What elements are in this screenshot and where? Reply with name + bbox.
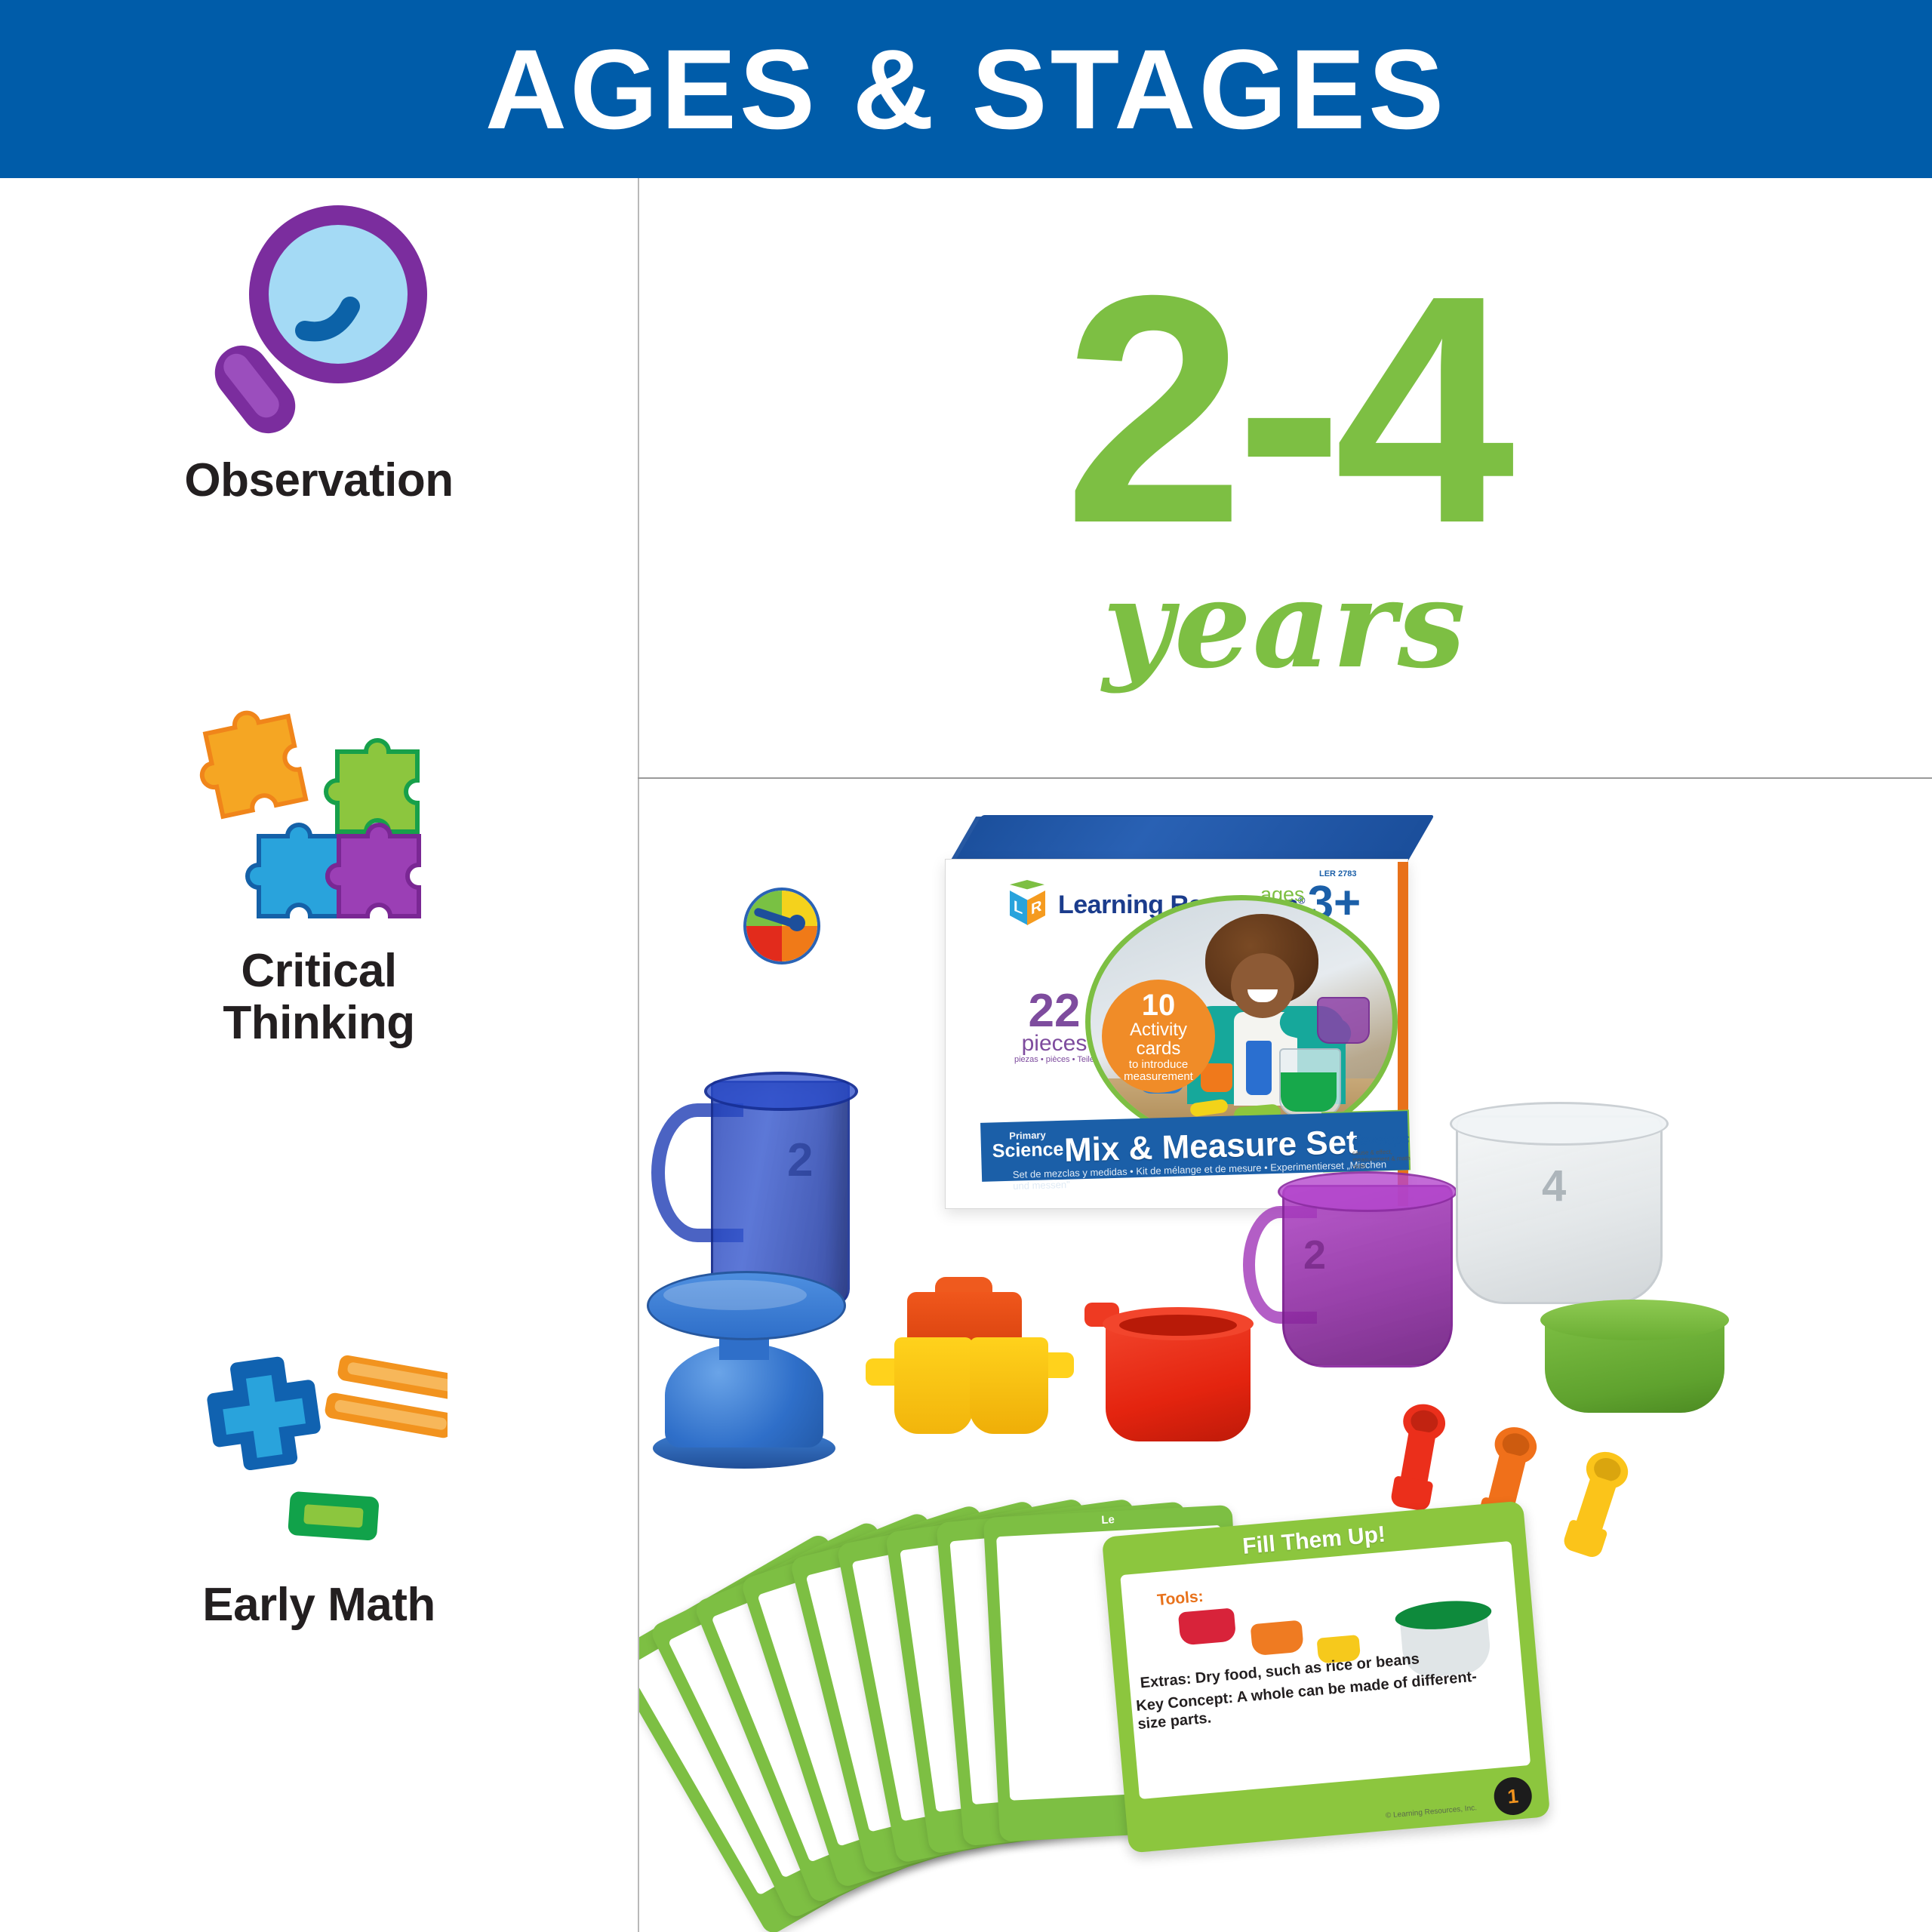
activity-cards-fan: Le Le Le Le Le Le Le Le Le Fill Them Up!…: [752, 1503, 1809, 1896]
skills-column: Observation: [0, 178, 638, 1932]
blue-pitcher-rim: [704, 1072, 858, 1111]
primary-science-line-2: Science: [989, 1140, 1068, 1161]
red-measuring-spoon: [1388, 1401, 1448, 1514]
age-unit-label: years: [1103, 564, 1467, 685]
card-number-badge: 1: [1493, 1776, 1534, 1817]
scale-dial: [743, 888, 820, 964]
activity-card-front: Fill Them Up! Tools: Extras: Dry food, s…: [1102, 1500, 1550, 1853]
badge-line-4: to introduce: [1129, 1059, 1188, 1071]
badge-line-5: measurement: [1124, 1071, 1193, 1083]
skill-item-observation: Observation: [0, 193, 638, 506]
card-red-scoop-icon: [1178, 1607, 1237, 1645]
skill-item-critical-thinking: Critical Thinking: [0, 706, 638, 1050]
logo-cube-icon: L R: [1004, 880, 1051, 930]
age-range-value: 2-4: [1064, 271, 1506, 550]
red-cup-rim-inner: [1119, 1315, 1237, 1336]
age-range-block: 2-4 years: [638, 178, 1932, 777]
pieces-languages: piezas • pièces • Teile: [1014, 1055, 1094, 1064]
logo-letter-l: L: [1014, 898, 1023, 919]
yellow-measuring-cup-right: [970, 1337, 1048, 1434]
ages-and-stages-infographic: AGES & STAGES Observation: [0, 0, 1932, 1932]
blue-pitcher-marking: 2: [787, 1134, 822, 1186]
activity-cards-badge: 10 Activity cards to introduce measureme…: [1102, 980, 1215, 1093]
develops-note: develops cause & effect, measurement & m…: [1352, 1131, 1420, 1171]
pieces-count: 22: [1014, 990, 1094, 1032]
badge-line-3: cards: [1137, 1040, 1181, 1059]
badge-count: 10: [1142, 990, 1176, 1022]
skill-item-early-math: Early Math: [0, 1340, 638, 1631]
skill-label-line-1: Critical: [223, 945, 414, 997]
card-copyright: © Learning Resources, Inc.: [1386, 1804, 1478, 1820]
primary-science-badge: Primary Science: [988, 1130, 1067, 1168]
puzzle-pieces-icon: [191, 706, 448, 933]
product-photo-area: L R Learning Resources® 22 pieces piezas…: [639, 779, 1932, 1932]
skill-label-early-math: Early Math: [202, 1579, 435, 1631]
clear-bowl-marking: 4: [1542, 1161, 1566, 1211]
magnifying-glass-icon: [195, 193, 444, 442]
page-title: AGES & STAGES: [0, 0, 1932, 178]
child-face: [1231, 953, 1294, 1018]
develops-sub: cause & effect, measurement & math skill…: [1352, 1148, 1421, 1171]
yellow-measuring-cup-left: [894, 1337, 973, 1434]
skill-label-critical-thinking: Critical Thinking: [223, 945, 414, 1050]
develops-label: develops: [1352, 1131, 1420, 1150]
clear-bowl-rim: [1450, 1102, 1669, 1146]
card-orange-scoop-icon: [1251, 1620, 1304, 1657]
math-symbols-icon: [191, 1340, 448, 1567]
photo-purple-cup: [1317, 997, 1370, 1044]
pieces-word: pieces: [1014, 1032, 1094, 1055]
pieces-count-block: 22 pieces piezas • pièces • Teile: [1014, 990, 1094, 1064]
blue-balance-scale: [647, 1271, 841, 1472]
green-bowl-rim: [1540, 1300, 1729, 1340]
card-extras-label: Extras:: [1140, 1671, 1192, 1692]
product-box: L R Learning Resources® 22 pieces piezas…: [945, 815, 1428, 1207]
purple-cup-rim: [1278, 1171, 1457, 1212]
skill-label-line-2: Thinking: [223, 997, 414, 1049]
purple-cup-marking: 2: [1303, 1232, 1326, 1278]
skill-label-observation: Observation: [184, 454, 453, 506]
photo-beaker-liquid: [1281, 1072, 1337, 1112]
scale-dial-hub: [789, 915, 805, 931]
photo-blue-cup: [1246, 1041, 1272, 1095]
badge-line-2: Activity: [1130, 1021, 1187, 1040]
